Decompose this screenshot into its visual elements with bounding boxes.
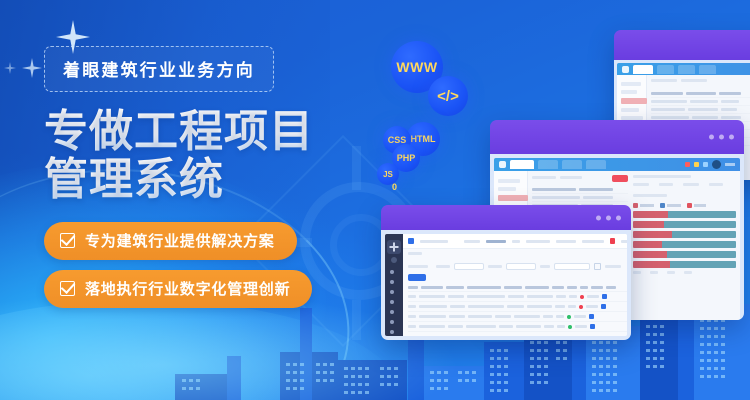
table-row[interactable] [408,302,627,312]
tech-bubble-label: PHP [397,153,416,163]
tech-bubble-zero: 0 [392,182,397,192]
window-dots [596,215,621,220]
top-toolbar[interactable] [403,234,627,249]
banner-stage: WWW </> HTML CSS PHP JS 0 着眼建筑行业业务方向 专做工… [0,0,750,400]
bullet-list: 专为建筑行业提供解决方案 落地执行行业数字化管理创新 [44,222,344,308]
table-row[interactable] [408,322,627,332]
dashboard-mockup-front[interactable] [381,205,631,340]
stacked-bar-chart [633,211,736,268]
pagination[interactable] [408,332,627,336]
sparkle-icon [22,58,42,78]
tech-bubble-label: </> [437,88,459,105]
tech-bubble-label: 0 [392,182,397,192]
bullet-label: 落地执行行业数字化管理创新 [85,278,290,299]
add-icon[interactable] [387,240,401,254]
bullet-item-1[interactable]: 专为建筑行业提供解决方案 [44,222,297,260]
checkbox-checked-icon [60,281,75,296]
window-dots [709,135,734,140]
app-toolbar[interactable] [617,63,750,75]
tech-bubble-label: HTML [411,134,436,144]
notification-badge [610,238,615,244]
checkbox-checked-icon [60,233,75,248]
data-table [403,284,627,336]
tech-bubble-label: WWW [396,59,437,75]
window-title-bar [614,30,750,60]
title-line-1: 专做工程项目 [44,108,344,156]
title-line-2: 管理系统 [44,156,344,204]
subtitle-text: 着眼建筑行业业务方向 [63,61,255,80]
window-title-bar [381,205,631,230]
sidebar-nav[interactable] [385,234,403,336]
window-title-bar [490,120,744,154]
bullet-item-2[interactable]: 落地执行行业数字化管理创新 [44,270,312,308]
tech-bubble-code: </> [428,76,468,116]
table-row[interactable] [408,312,627,322]
chart-legend [633,203,736,208]
banner-copy: 着眼建筑行业业务方向 专做工程项目 管理系统 专为建筑行业提供解决方案 落地执行… [44,46,344,318]
table-header [408,284,627,292]
main-panel [403,234,627,336]
filter-bar[interactable] [403,261,627,274]
table-row[interactable] [408,292,627,302]
chart-panel [633,175,736,316]
avatar [712,160,721,169]
page-title: 专做工程项目 管理系统 [44,108,344,204]
subtitle-box: 着眼建筑行业业务方向 [44,46,274,92]
app-toolbar[interactable] [494,158,740,171]
bullet-label: 专为建筑行业提供解决方案 [85,230,275,251]
sparkle-icon [4,62,16,74]
tech-bubble-label: JS [383,170,393,179]
